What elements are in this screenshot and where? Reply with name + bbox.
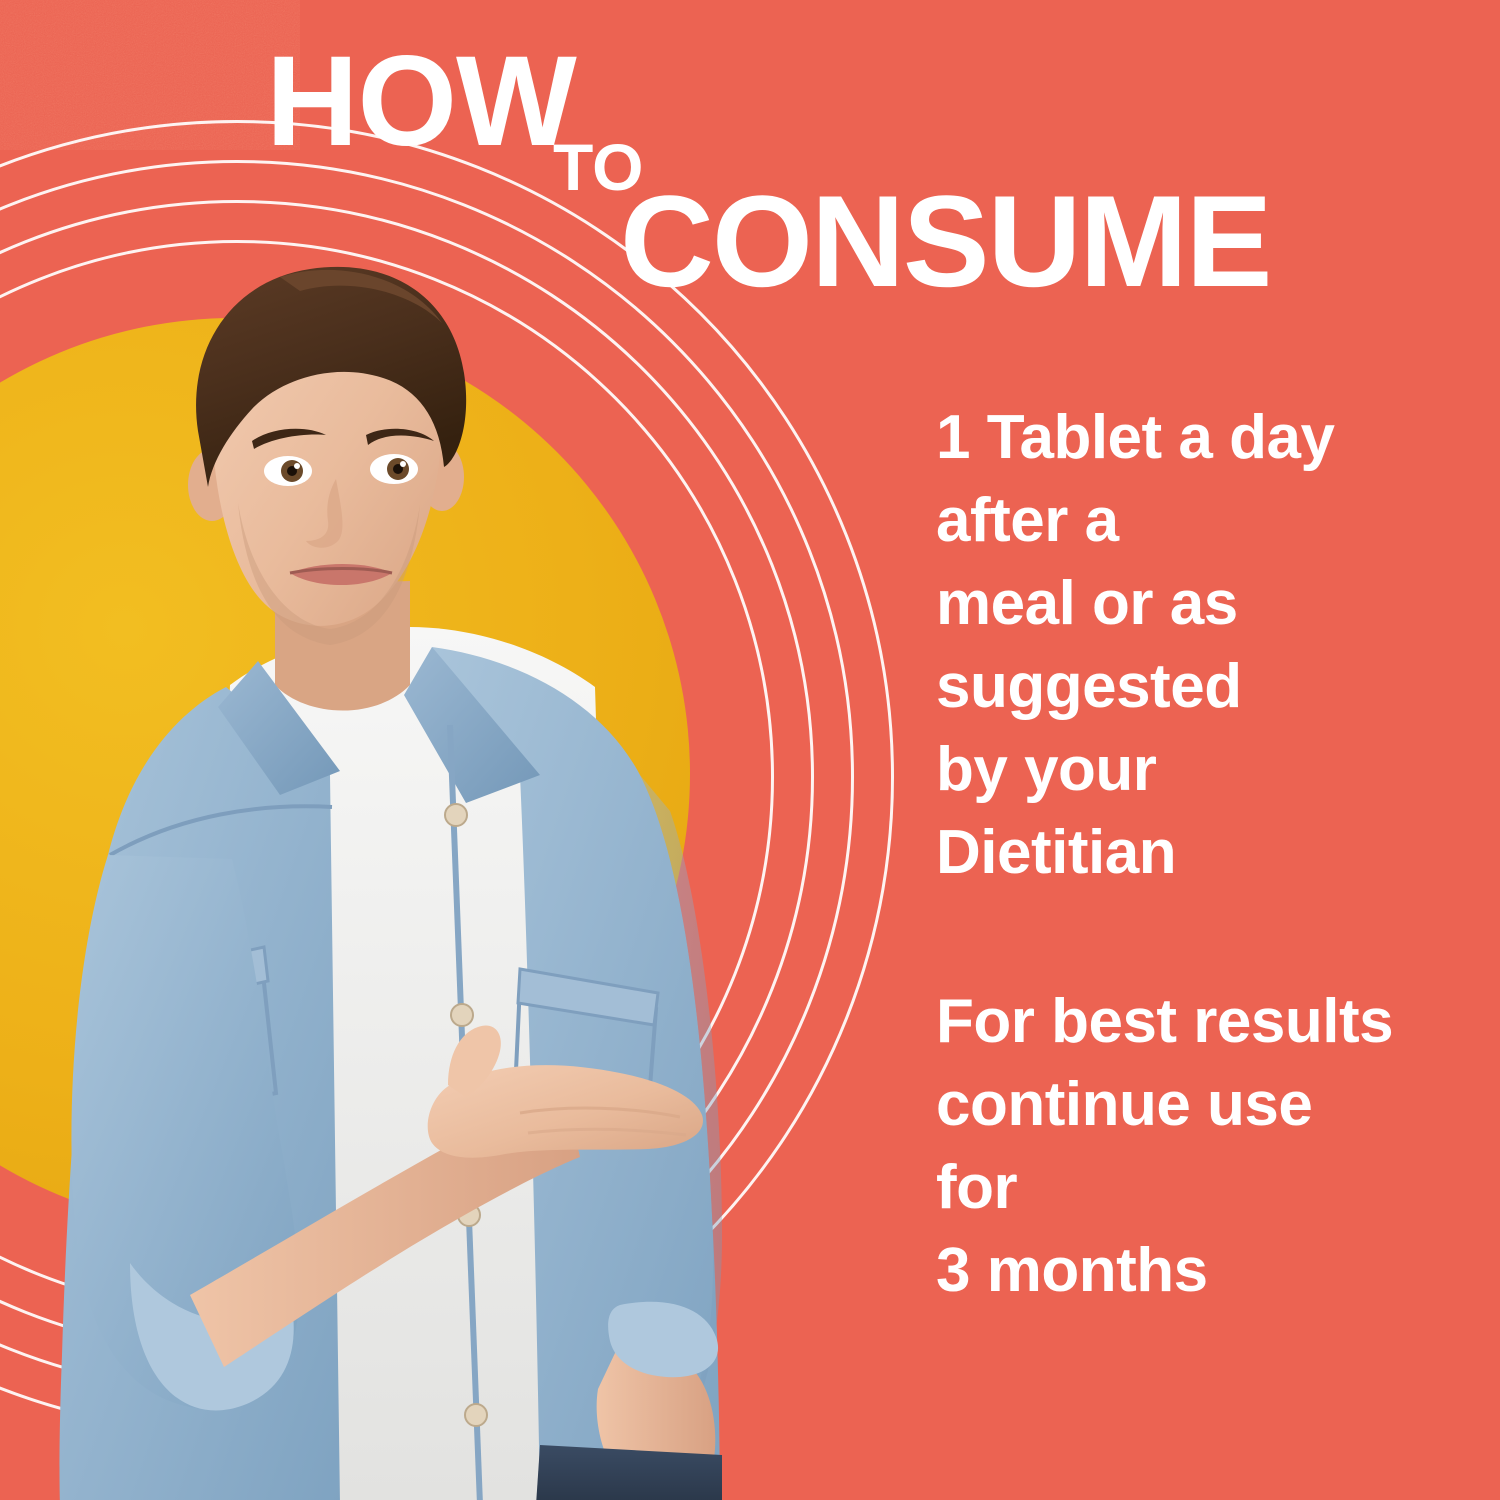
- person-head: [188, 267, 466, 645]
- instructions-block: 1 Tablet a day after a meal or as sugges…: [936, 396, 1496, 1312]
- poster-canvas: HOW TO CONSUME 1 Tablet a day after a me…: [0, 0, 1500, 1500]
- headline-consume: CONSUME: [620, 176, 1270, 306]
- dosage-paragraph: 1 Tablet a day after a meal or as sugges…: [936, 396, 1496, 894]
- headline-how: HOW: [266, 38, 576, 166]
- person-photo: [0, 255, 880, 1500]
- paragraph-spacer: [936, 894, 1496, 980]
- duration-paragraph: For best results continue use for 3 mont…: [936, 980, 1496, 1312]
